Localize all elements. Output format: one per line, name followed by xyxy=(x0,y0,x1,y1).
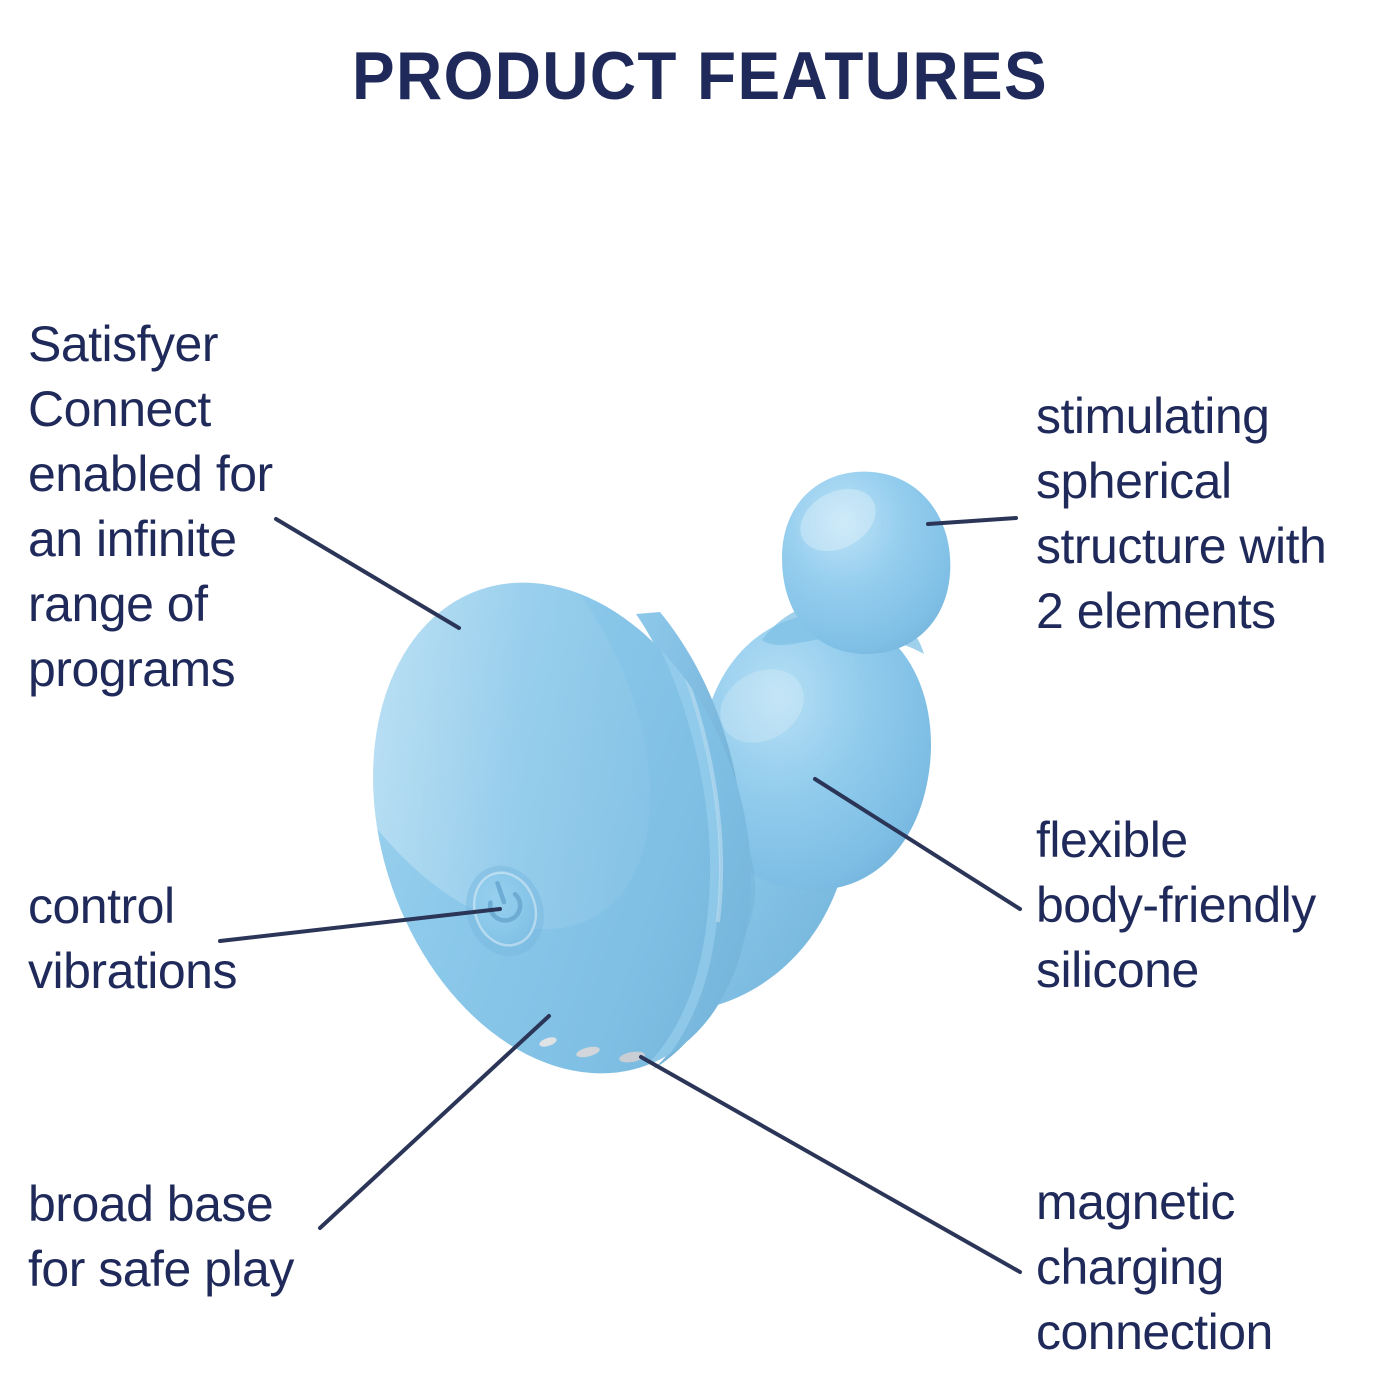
callout-broad-base: broad base for safe play xyxy=(28,1172,408,1302)
callout-spherical-structure: stimulating spherical structure with 2 e… xyxy=(1036,384,1386,644)
callout-control-vibrations: control vibrations xyxy=(28,874,358,1004)
callout-flexible-silicone: flexible body-friendly silicone xyxy=(1036,808,1386,1003)
product-features-infographic: PRODUCT FEATURES xyxy=(0,0,1400,1400)
callout-magnetic-charging: magnetic charging connection xyxy=(1036,1170,1386,1365)
callout-satisfyer-connect: Satisfyer Connect enabled for an infinit… xyxy=(28,312,358,702)
